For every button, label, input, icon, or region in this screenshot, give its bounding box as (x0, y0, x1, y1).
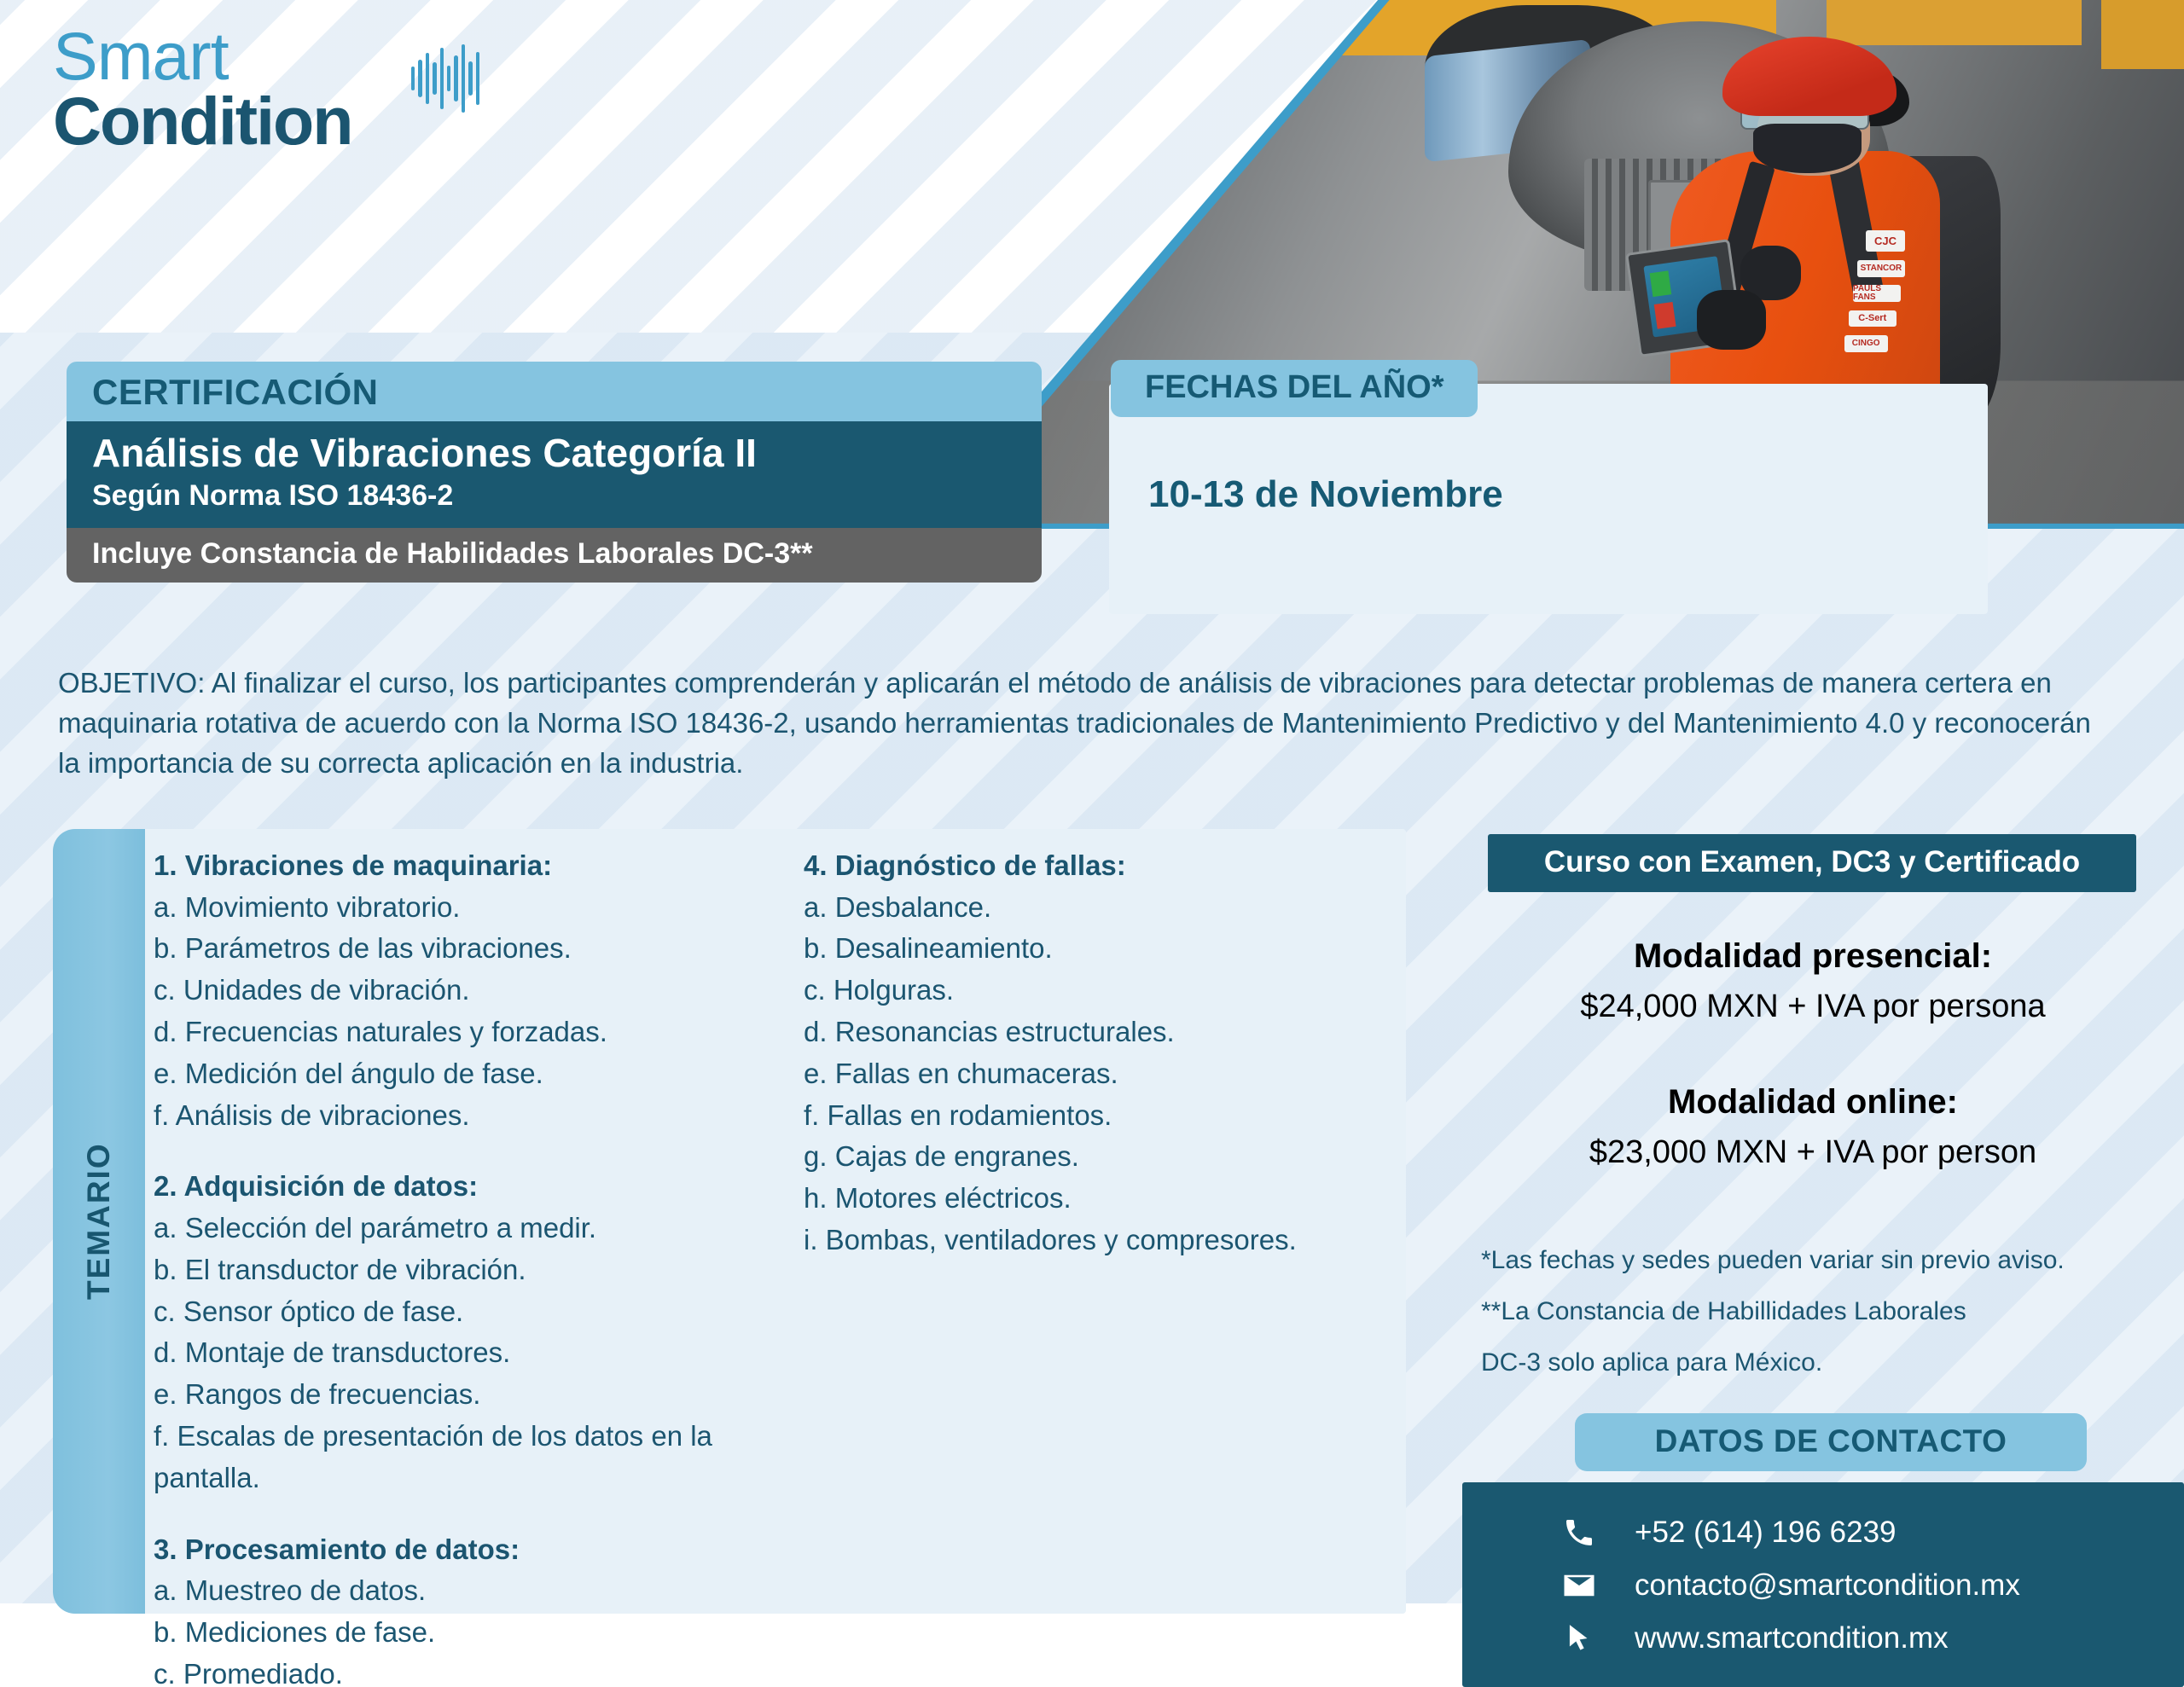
syllabus-item: a. Selección del parámetro a medir. (154, 1208, 793, 1249)
pricing-presencial-amount: $24,000 MXN + IVA por persona (1450, 983, 2175, 1031)
phone-icon (1553, 1516, 1606, 1550)
syllabus-item: a. Movimiento vibratorio. (154, 887, 793, 929)
certification-kicker: CERTIFICACIÓN (67, 362, 1042, 421)
contact-row-phone[interactable]: +52 (614) 196 6239 (1553, 1506, 2184, 1559)
footnote-line-2: **La Constancia de Habillidades Laborale… (1481, 1286, 2184, 1337)
syllabus-item: b. El transductor de vibración. (154, 1249, 793, 1291)
syllabus-item: h. Motores eléctricos. (804, 1178, 1391, 1220)
sleeve-badge-cingo: CINGO (1844, 335, 1888, 352)
syllabus-item: c. Holguras. (804, 970, 1391, 1012)
cursor-arrow-icon (1553, 1622, 1606, 1655)
syllabus-column-2: 4. Diagnóstico de fallas: a. Desbalance.… (793, 844, 1391, 1614)
objective-paragraph: OBJETIVO: Al finalizar el curso, los par… (58, 664, 2114, 784)
syllabus-section: 4. Diagnóstico de fallas: a. Desbalance.… (804, 844, 1391, 1261)
certification-subtitle: Según Norma ISO 18436-2 (92, 478, 1016, 514)
syllabus-item: g. Cajas de engranes. (804, 1136, 1391, 1178)
contact-row-web[interactable]: www.smartcondition.mx (1553, 1612, 2184, 1665)
certification-title: Análisis de Vibraciones Categoría II (92, 430, 1016, 476)
contact-list: +52 (614) 196 6239 contacto@smartconditi… (1462, 1482, 2184, 1687)
syllabus-item: d. Frecuencias naturales y forzadas. (154, 1012, 793, 1053)
syllabus-item: b. Mediciones de fase. (154, 1612, 793, 1654)
pricing-presencial-label: Modalidad presencial: (1450, 930, 2175, 983)
syllabus-item: f. Escalas de presentación de los datos … (154, 1416, 793, 1499)
machine-yellow-panel-c (2101, 0, 2184, 69)
sleeve-badge-pauls-fans: PAULS FANS (1853, 285, 1901, 302)
brand-logo: Smart Condition (53, 26, 531, 154)
syllabus-item: b. Parámetros de las vibraciones. (154, 928, 793, 970)
pricing-spacer (1450, 1031, 2175, 1075)
contact-phone-value: +52 (614) 196 6239 (1606, 1516, 1896, 1550)
syllabus-item: f. Análisis de vibraciones. (154, 1095, 793, 1137)
certification-block: CERTIFICACIÓN Análisis de Vibraciones Ca… (67, 362, 1042, 583)
syllabus-item: c. Unidades de vibración. (154, 970, 793, 1012)
syllabus-item: d. Montaje de transductores. (154, 1332, 793, 1374)
analyzer-status-alarm (1653, 302, 1676, 328)
footnotes: *Las fechas y sedes pueden variar sin pr… (1481, 1235, 2184, 1388)
syllabus-item: a. Muestreo de datos. (154, 1570, 793, 1612)
syllabus-columns: 1. Vibraciones de maquinaria: a. Movimie… (145, 829, 1406, 1614)
syllabus-item: c. Promediado. (154, 1654, 793, 1687)
syllabus-item: e. Rangos de frecuencias. (154, 1374, 793, 1416)
pricing-online-amount: $23,000 MXN + IVA por person (1450, 1128, 2175, 1177)
contact-row-email[interactable]: contacto@smartcondition.mx (1553, 1559, 2184, 1612)
sleeve-badge-csert: C-Sert (1849, 310, 1896, 328)
face-mask (1753, 124, 1862, 173)
dates-tag: FECHAS DEL AÑO* (1111, 360, 1478, 417)
syllabus-column-1: 1. Vibraciones de maquinaria: a. Movimie… (145, 844, 793, 1614)
technician-glove-lower (1697, 290, 1766, 350)
pricing-online-label: Modalidad online: (1450, 1075, 2175, 1128)
syllabus-item: f. Fallas en rodamientos. (804, 1095, 1391, 1137)
syllabus-item: a. Desbalance. (804, 887, 1391, 929)
syllabus-item: b. Desalineamiento. (804, 928, 1391, 970)
footnote-line-3: DC-3 solo aplica para México. (1481, 1337, 2184, 1388)
syllabus-section-title: 4. Diagnóstico de fallas: (804, 844, 1391, 887)
syllabus-section: 3. Procesamiento de datos: a. Muestreo d… (154, 1528, 793, 1687)
hard-hat-icon (1722, 37, 1896, 116)
flyer-page: CJC STANCOR PAULS FANS C-Sert CINGO Smar… (0, 0, 2184, 1687)
pricing-block: Modalidad presencial: $24,000 MXN + IVA … (1450, 930, 2175, 1177)
syllabus-section-title: 3. Procesamiento de datos: (154, 1528, 793, 1571)
sleeve-badge-stancor: STANCOR (1857, 260, 1905, 277)
syllabus-section: 2. Adquisición de datos: a. Selección de… (154, 1165, 793, 1499)
syllabus-label: TEMARIO (53, 829, 145, 1614)
certification-footer-note: Incluye Constancia de Habilidades Labora… (67, 528, 1042, 583)
syllabus-section-title: 1. Vibraciones de maquinaria: (154, 844, 793, 887)
sleeve-badge-cjc: CJC (1866, 230, 1905, 251)
pricing-tag: Curso con Examen, DC3 y Certificado (1488, 834, 2136, 892)
syllabus-item: e. Medición del ángulo de fase. (154, 1053, 793, 1095)
syllabus-item: c. Sensor óptico de fase. (154, 1291, 793, 1333)
contact-email-value: contacto@smartcondition.mx (1606, 1568, 2020, 1603)
analyzer-status-ok (1649, 270, 1671, 297)
footnote-line-1: *Las fechas y sedes pueden variar sin pr… (1481, 1235, 2184, 1286)
contact-web-value: www.smartcondition.mx (1606, 1621, 1949, 1655)
envelope-icon (1553, 1568, 1606, 1603)
certification-body: Análisis de Vibraciones Categoría II Seg… (67, 421, 1042, 528)
contact-tag: DATOS DE CONTACTO (1575, 1413, 2087, 1471)
waveform-icon (411, 44, 479, 113)
syllabus-section: 1. Vibraciones de maquinaria: a. Movimie… (154, 844, 793, 1136)
syllabus-item: i. Bombas, ventiladores y compresores. (804, 1220, 1391, 1261)
syllabus-item: e. Fallas en chumaceras. (804, 1053, 1391, 1095)
syllabus-section-title: 2. Adquisición de datos: (154, 1165, 793, 1208)
syllabus-item: d. Resonancias estructurales. (804, 1012, 1391, 1053)
dates-value: 10-13 de Noviembre (1148, 473, 1503, 516)
